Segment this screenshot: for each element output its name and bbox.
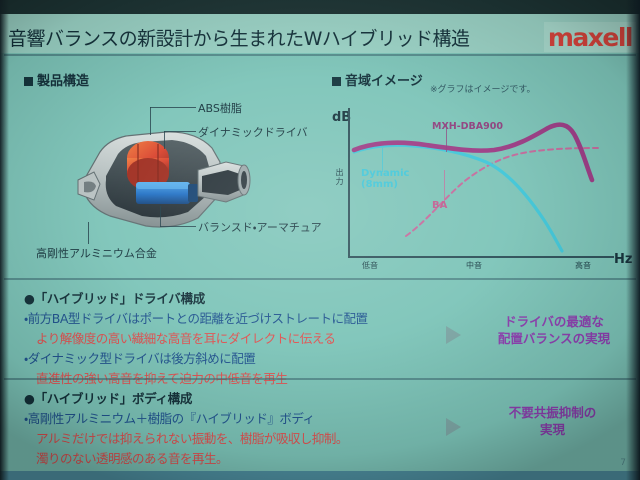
leader-line-dynamic-h — [164, 131, 196, 132]
bullet-heading-driver: ●「ハイブリッド」ドライバ構成 — [24, 288, 368, 307]
projector-left-edge — [0, 0, 9, 480]
bullet-block-body: ●「ハイブリッド」ボディ構成 ・高剛性アルミニウム＋樹脂の『ハイブリッド』ボディ… — [24, 388, 348, 467]
bullet-square-icon — [24, 77, 33, 86]
bullet-line-body-2: アルミだけでは抑えられない振動を、樹脂が吸収し抑制。 — [24, 428, 348, 447]
bullet-line-driver-3: ・ダイナミック型ドライバは後方斜めに配置 — [24, 348, 368, 367]
chart-label-dba900: MXH-DBA900 — [432, 121, 503, 132]
section-heading-graph-label: 音域イメージ — [345, 74, 423, 89]
callout-abs: ABS樹脂 — [198, 100, 242, 116]
bullet-line-body-1: ・高剛性アルミニウム＋樹脂の『ハイブリッド』ボディ — [24, 408, 348, 427]
chart-label-dynamic-line1: Dynamic — [361, 168, 409, 179]
section-heading-graph: 音域イメージ — [332, 70, 423, 89]
leader-line-dynamic — [164, 131, 165, 149]
arrow-icon-driver — [446, 326, 461, 344]
projector-top-band — [0, 0, 640, 14]
leader-line-alloy — [88, 222, 89, 244]
bullet-heading-body: ●「ハイブリッド」ボディ構成 — [24, 388, 348, 407]
bullet-block-driver: ●「ハイブリッド」ドライバ構成 ・前方BA型ドライバはポートとの距離を近づけスト… — [24, 288, 368, 387]
annotation-tick-ba — [444, 170, 445, 204]
section-divider-2 — [4, 378, 636, 380]
presentation-slide: 音響バランスの新設計から生まれたWハイブリッド構造 maxell 製品構造 — [0, 0, 640, 480]
leader-line-abs — [150, 107, 151, 135]
leader-line-abs-h — [150, 107, 196, 108]
bullet-line-driver-2: より解像度の高い繊細な高音を耳にダイレクトに伝える — [24, 328, 368, 347]
arrow-icon-body — [446, 418, 461, 436]
section-divider-1 — [4, 278, 636, 280]
header-divider — [4, 54, 636, 56]
series-dynamic-curve — [354, 145, 562, 251]
conclusion-driver-line2: 配置バランスの実現 — [498, 331, 610, 346]
page-title: 音響バランスの新設計から生まれたWハイブリッド構造 — [8, 24, 470, 51]
chart-label-dynamic: Dynamic (8mm) — [361, 168, 409, 190]
conclusion-body: 不要共振抑制の 実現 — [470, 404, 635, 438]
bullet-square-icon-graph — [332, 77, 341, 86]
leader-line-ba — [160, 206, 161, 227]
balanced-armature-part — [136, 182, 198, 204]
conclusion-body-line1: 不要共振抑制の — [509, 405, 597, 420]
conclusion-driver: ドライバの最適な 配置バランスの実現 — [474, 313, 634, 347]
conclusion-driver-line1: ドライバの最適な — [504, 314, 604, 329]
chart-label-ba: BA — [432, 200, 447, 211]
chart-xtick-low: 低音 — [362, 260, 378, 271]
bullet-line-body-3: 濁りのない透明感のある音を再生。 — [24, 448, 348, 467]
section-heading-product-label: 製品構造 — [37, 74, 89, 89]
graph-disclaimer-note: ※グラフはイメージです。 — [430, 82, 535, 95]
bullet-line-driver-1: ・前方BA型ドライバはポートとの距離を近づけストレートに配置 — [24, 308, 368, 327]
callout-aluminium-alloy: 高剛性アルミニウム合金 — [36, 245, 157, 261]
chart-xtick-high: 高音 — [575, 260, 591, 271]
series-ba-curve — [406, 148, 598, 236]
chart-label-dynamic-line2: (8mm) — [361, 179, 398, 190]
callout-balanced-armature: バランスド・アーマチュア — [198, 219, 322, 235]
leader-line-ba-h — [160, 226, 196, 227]
maxell-logo: maxell — [548, 25, 632, 50]
chart-xtick-mid: 中音 — [466, 260, 482, 271]
section-heading-product: 製品構造 — [24, 70, 89, 89]
projector-right-edge — [626, 0, 640, 480]
callout-dynamic-driver: ダイナミックドライバ — [198, 124, 308, 140]
conclusion-body-line2: 実現 — [540, 422, 565, 437]
projector-bottom-band — [0, 471, 640, 480]
graph-y-axis-label: 出力 — [334, 168, 345, 186]
sound-nozzle — [198, 162, 250, 202]
